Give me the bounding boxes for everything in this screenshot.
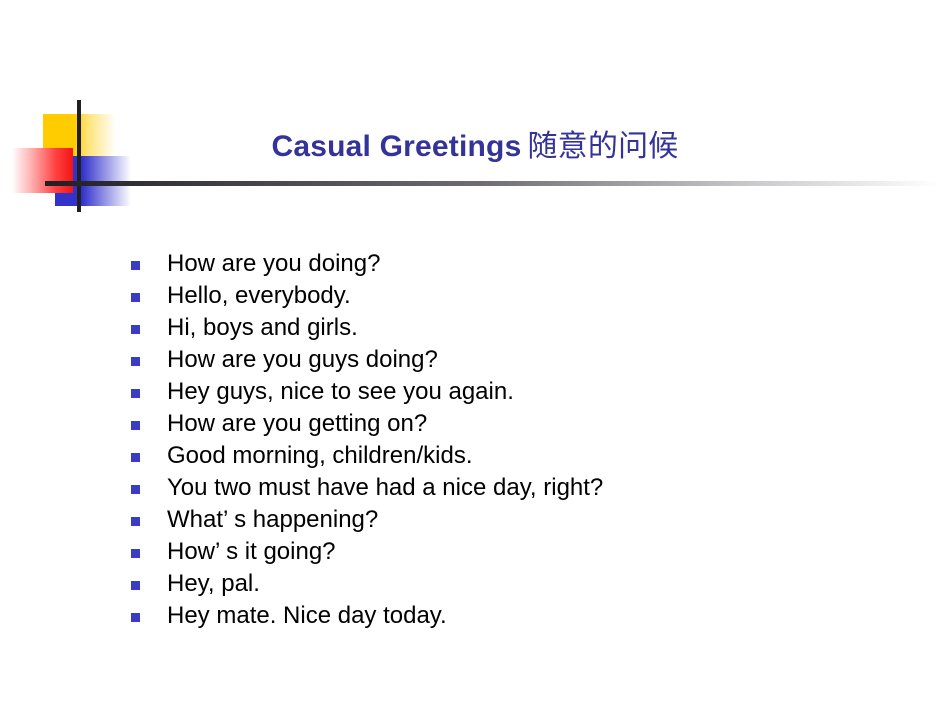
list-item-label: Hi, boys and girls. bbox=[167, 314, 358, 341]
list-item: Hello, everybody. bbox=[131, 280, 891, 312]
square-bullet-icon bbox=[131, 389, 140, 398]
list-item-label: Hey mate. Nice day today. bbox=[167, 602, 447, 629]
horizontal-rule bbox=[45, 181, 950, 186]
list-item: How are you getting on? bbox=[131, 408, 891, 440]
slide-title-cjk: 随意的问候 bbox=[521, 130, 678, 163]
square-bullet-icon bbox=[131, 453, 140, 462]
list-item: You two must have had a nice day, right? bbox=[131, 472, 891, 504]
list-item-label: How’ s it going? bbox=[167, 538, 336, 565]
list-item-label: Good morning, children/kids. bbox=[167, 442, 472, 469]
square-bullet-icon bbox=[131, 357, 140, 366]
slide-canvas: Casual Greetings随意的问候 How are you doing?… bbox=[0, 0, 950, 713]
square-bullet-icon bbox=[131, 581, 140, 590]
list-item: How’ s it going? bbox=[131, 536, 891, 568]
list-item-label: Hey guys, nice to see you again. bbox=[167, 378, 514, 405]
list-item: Hey mate. Nice day today. bbox=[131, 600, 891, 632]
decorative-corner-motif bbox=[0, 0, 950, 230]
list-item: Hey, pal. bbox=[131, 568, 891, 600]
list-item: How are you guys doing? bbox=[131, 344, 891, 376]
list-item-label: Hello, everybody. bbox=[167, 282, 351, 309]
square-bullet-icon bbox=[131, 421, 140, 430]
slide-title-latin: Casual Greetings bbox=[272, 130, 522, 163]
square-bullet-icon bbox=[131, 325, 140, 334]
list-item: What’ s happening? bbox=[131, 504, 891, 536]
square-bullet-icon bbox=[131, 485, 140, 494]
list-item: How are you doing? bbox=[131, 248, 891, 280]
list-item-label: How are you getting on? bbox=[167, 410, 427, 437]
square-bullet-icon bbox=[131, 293, 140, 302]
list-item-label: How are you doing? bbox=[167, 250, 380, 277]
list-item: Hey guys, nice to see you again. bbox=[131, 376, 891, 408]
square-bullet-icon bbox=[131, 517, 140, 526]
square-bullet-icon bbox=[131, 261, 140, 270]
list-item-label: You two must have had a nice day, right? bbox=[167, 474, 603, 501]
slide-title: Casual Greetings随意的问候 bbox=[0, 128, 950, 166]
list-item-label: How are you guys doing? bbox=[167, 346, 438, 373]
list-item: Good morning, children/kids. bbox=[131, 440, 891, 472]
square-bullet-icon bbox=[131, 613, 140, 622]
list-item-label: What’ s happening? bbox=[167, 506, 378, 533]
greetings-bullet-list: How are you doing? Hello, everybody. Hi,… bbox=[131, 248, 891, 632]
list-item-label: Hey, pal. bbox=[167, 570, 260, 597]
list-item: Hi, boys and girls. bbox=[131, 312, 891, 344]
square-bullet-icon bbox=[131, 549, 140, 558]
